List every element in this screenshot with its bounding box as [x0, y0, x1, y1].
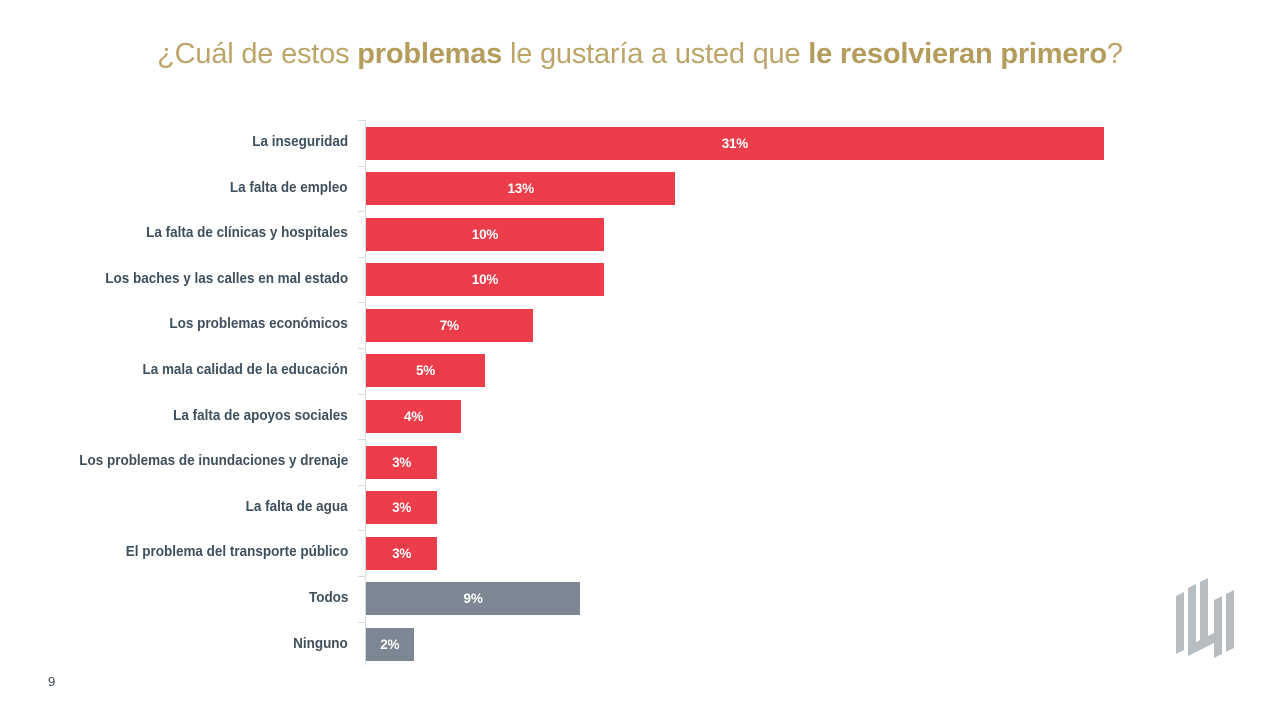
bar-container: 13% [366, 172, 675, 205]
axis-tick [358, 348, 365, 349]
bar-value-label: 3% [366, 491, 437, 524]
bar-value-label: 31% [366, 127, 1104, 160]
bar-value-label: 7% [366, 309, 533, 342]
axis-tick [358, 211, 365, 212]
axis-tick [358, 257, 365, 258]
bar[interactable]: 31% [366, 127, 1104, 160]
bar-rows: La inseguridad31%La falta de empleo13%La… [0, 120, 1280, 667]
category-label: El problema del transporte público [125, 530, 348, 576]
bar[interactable]: 10% [366, 263, 604, 296]
bar-row: Todos9% [0, 576, 1280, 622]
bar-row: La falta de empleo13% [0, 166, 1280, 212]
bar-container: 7% [366, 309, 533, 342]
bar-container: 3% [366, 537, 437, 570]
bar-container: 10% [366, 263, 604, 296]
bar[interactable]: 4% [366, 400, 461, 433]
bar[interactable]: 10% [366, 218, 604, 251]
bar-row: La falta de apoyos sociales4% [0, 394, 1280, 440]
bar-row: La inseguridad31% [0, 120, 1280, 166]
bar[interactable]: 2% [366, 628, 414, 661]
bar-value-label: 10% [366, 218, 604, 251]
bar-container: 2% [366, 628, 414, 661]
bar-value-label: 3% [366, 446, 437, 479]
category-label: Ninguno [293, 622, 348, 668]
bar[interactable]: 3% [366, 491, 437, 524]
category-label: Los problemas económicos [170, 302, 348, 348]
bar-container: 4% [366, 400, 461, 433]
axis-tick [358, 120, 365, 121]
bar-value-label: 2% [366, 628, 414, 661]
page-title-segment-1: problemas [357, 38, 502, 70]
category-label: La falta de apoyos sociales [173, 394, 348, 440]
bar[interactable]: 5% [366, 354, 485, 387]
bar-row: Los problemas económicos7% [0, 302, 1280, 348]
page-number: 9 [48, 674, 55, 689]
category-label: La falta de empleo [230, 166, 348, 212]
page-title-segment-3: le resolvieran primero [808, 38, 1107, 70]
bar-row: La mala calidad de la educación5% [0, 348, 1280, 394]
axis-tick [358, 302, 365, 303]
axis-tick [358, 439, 365, 440]
bar-container: 3% [366, 491, 437, 524]
category-label: Los baches y las calles en mal estado [105, 257, 348, 303]
bar[interactable]: 9% [366, 582, 580, 615]
axis-tick [358, 166, 365, 167]
bar[interactable]: 7% [366, 309, 533, 342]
bar-chart: La inseguridad31%La falta de empleo13%La… [0, 112, 1280, 668]
page-title-segment-4: ? [1107, 38, 1123, 70]
category-label: Todos [309, 576, 348, 622]
bar[interactable]: 3% [366, 537, 437, 570]
bar-row: Los problemas de inundaciones y drenaje3… [0, 439, 1280, 485]
bar-row: La falta de clínicas y hospitales10% [0, 211, 1280, 257]
page-title-segment-0: ¿Cuál de estos [157, 38, 357, 70]
bar-row: La falta de agua3% [0, 485, 1280, 531]
bar-container: 31% [366, 127, 1104, 160]
bar[interactable]: 13% [366, 172, 675, 205]
category-label: La falta de agua [246, 485, 348, 531]
bar-value-label: 10% [366, 263, 604, 296]
bar[interactable]: 3% [366, 446, 437, 479]
brand-logo-icon [1168, 570, 1248, 660]
axis-tick [358, 394, 365, 395]
page-title: ¿Cuál de estos problemas le gustaría a u… [0, 36, 1280, 72]
axis-tick [358, 622, 365, 623]
bar-container: 3% [366, 446, 437, 479]
bar-container: 9% [366, 582, 580, 615]
bar-value-label: 4% [366, 400, 461, 433]
bar-value-label: 9% [366, 582, 580, 615]
bar-row: Los baches y las calles en mal estado10% [0, 257, 1280, 303]
bar-container: 10% [366, 218, 604, 251]
category-label: Los problemas de inundaciones y drenaje [79, 439, 348, 485]
bar-value-label: 5% [366, 354, 485, 387]
page-title-segment-2: le gustaría a usted que [502, 38, 808, 70]
bar-value-label: 13% [366, 172, 675, 205]
bar-value-label: 3% [366, 537, 437, 570]
bar-row: El problema del transporte público3% [0, 530, 1280, 576]
category-label: La inseguridad [252, 120, 348, 166]
bar-row: Ninguno2% [0, 622, 1280, 668]
axis-tick [358, 485, 365, 486]
category-label: La mala calidad de la educación [143, 348, 348, 394]
bar-container: 5% [366, 354, 485, 387]
axis-tick [358, 530, 365, 531]
category-label: La falta de clínicas y hospitales [146, 211, 348, 257]
axis-tick [358, 576, 365, 577]
